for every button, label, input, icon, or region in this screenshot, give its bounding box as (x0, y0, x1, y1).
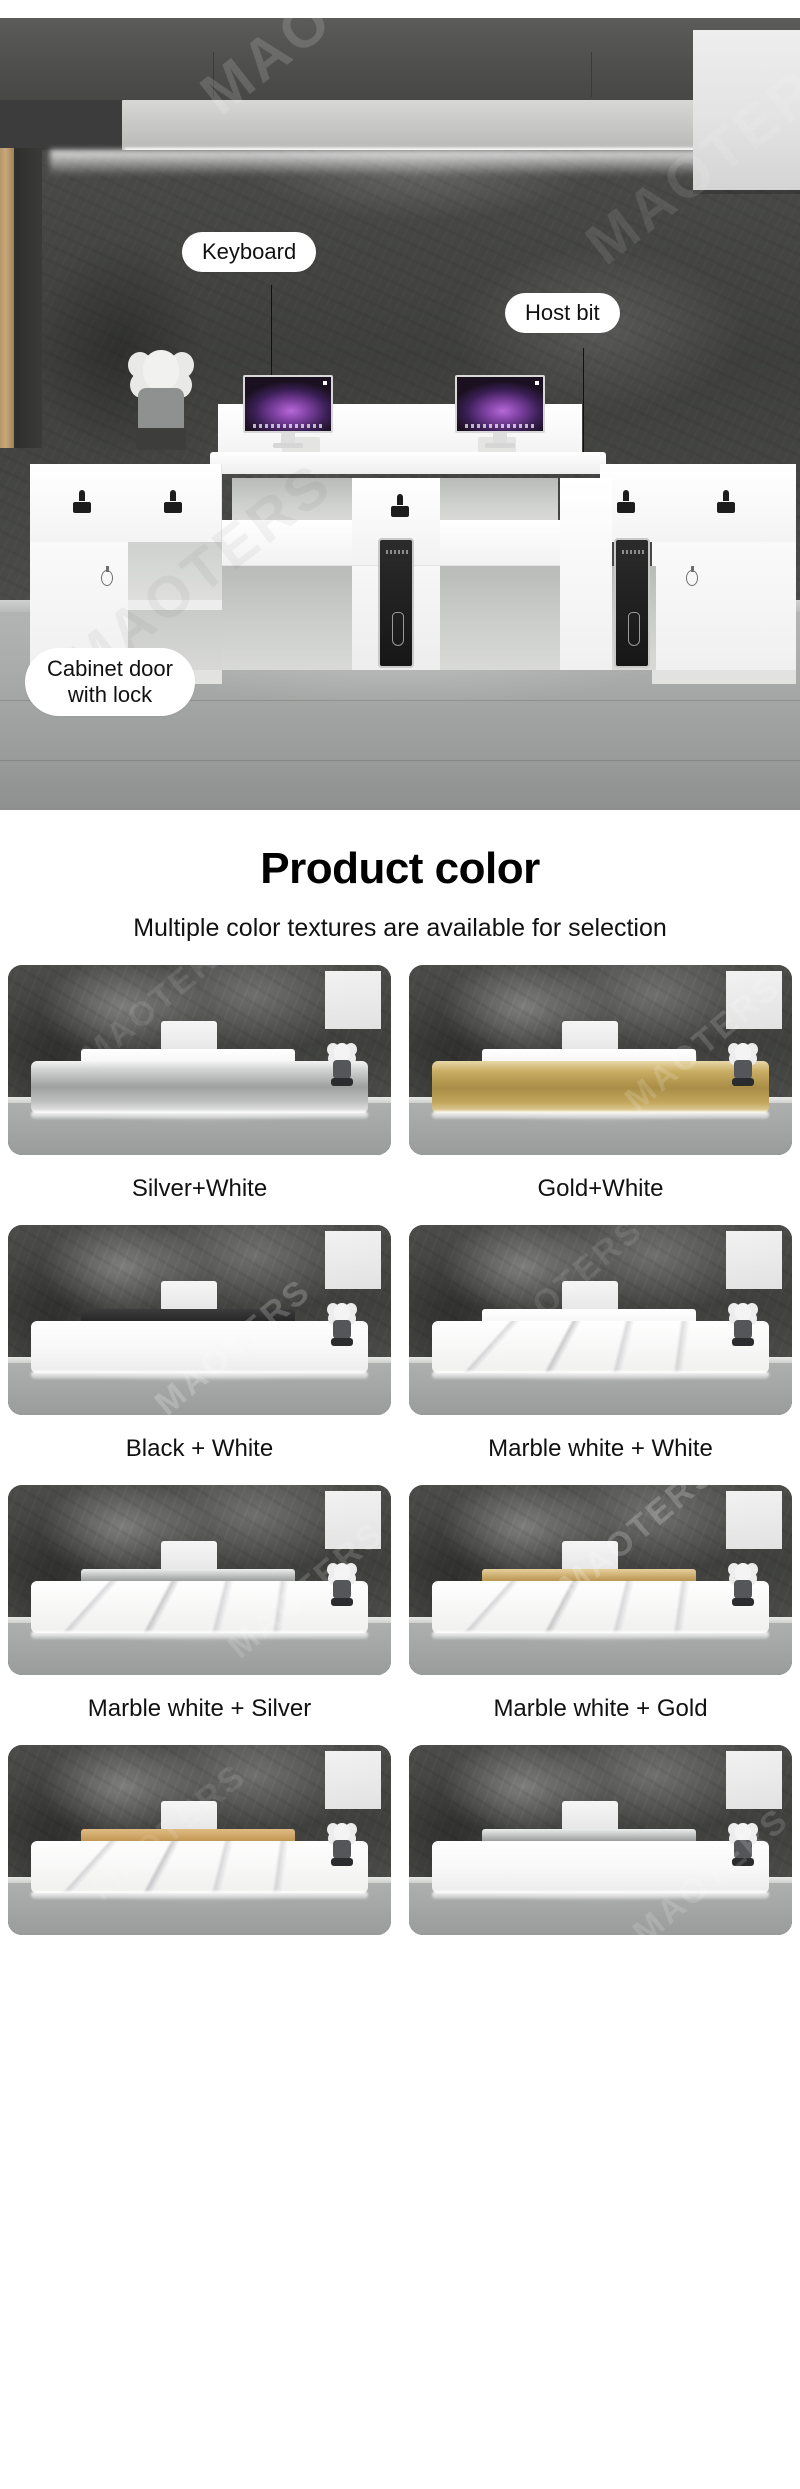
color-swatch-label-6: Marble white + Gold (409, 1675, 792, 1745)
swatch-desk-front-silver (31, 1061, 368, 1113)
swatch-wall-frame (325, 971, 381, 1029)
callout-host-bit-label: Host bit (505, 293, 620, 333)
product-color-section: Product color Multiple color textures ar… (0, 810, 800, 1935)
callout-keyboard[interactable]: Keyboard (182, 232, 316, 272)
right-cabinet-plinth (652, 670, 796, 684)
swatch-wall-frame (726, 1491, 782, 1549)
drawer-lock-icon-2 (164, 490, 182, 514)
cabinet-ring-pull-right (686, 570, 698, 586)
color-swatch-image[interactable]: MAOTERS (409, 1485, 792, 1675)
swatch-bear-figure (327, 1303, 357, 1349)
swatch-wall-frame (325, 1231, 381, 1289)
swatch-desk-front-marble (432, 1321, 769, 1373)
swatch-desk-underglow (31, 1631, 368, 1639)
swatch-monitor (161, 1281, 217, 1311)
desk-worktop (210, 452, 606, 474)
swatch-monitor (562, 1281, 618, 1311)
callout-cabinet-door-line1: Cabinet door (47, 656, 173, 681)
swatch-wall-frame (325, 1751, 381, 1809)
swatch-desk-underglow (432, 1891, 769, 1899)
monitor-left (243, 375, 333, 448)
color-swatch-label-4: Marble white + White (409, 1415, 792, 1485)
swatch-wall-frame (726, 1751, 782, 1809)
swatch-wall-frame (726, 971, 782, 1029)
color-swatch-label-2: Gold+White (409, 1155, 792, 1225)
host-tower-left (378, 538, 414, 668)
color-swatch-image[interactable]: MAOTERS (8, 1485, 391, 1675)
color-swatch-7[interactable]: MAOTERS (8, 1745, 391, 1935)
color-swatch-1[interactable]: MAOTERS Silver+White (8, 965, 391, 1225)
color-swatch-6[interactable]: MAOTERS Marble white + Gold (409, 1485, 792, 1745)
swatch-desk-underglow (31, 1371, 368, 1379)
swatch-monitor (562, 1541, 618, 1571)
color-swatch-image[interactable]: MAOTERS (409, 1225, 792, 1415)
left-drawer-row (30, 464, 222, 542)
color-swatch-label-5: Marble white + Silver (8, 1675, 391, 1745)
swatch-bear-figure (327, 1043, 357, 1089)
page-subtitle: Multiple color textures are available fo… (0, 914, 800, 943)
swatch-bear-figure (728, 1563, 758, 1609)
swatch-monitor (161, 1021, 217, 1051)
color-swatch-5[interactable]: MAOTERS Marble white + Silver (8, 1485, 391, 1745)
swatch-desk-front-marble (31, 1841, 368, 1893)
drawer-lock-icon-5 (717, 490, 735, 514)
swatch-monitor (161, 1801, 217, 1831)
hero-product-image: MAOTERS MAOTERS MAOTERS Keyboard Host bi… (0, 0, 800, 810)
cabinet-ring-pull-left (101, 570, 113, 586)
center-knee-void-left (232, 478, 352, 520)
ceiling-strip (0, 0, 800, 18)
drawer-lock-icon-4 (617, 490, 635, 514)
swatch-wall-frame (726, 1231, 782, 1289)
swatch-bear-figure (728, 1823, 758, 1869)
center-knee-void-right (440, 478, 558, 520)
left-shelf-board (128, 600, 222, 610)
swatch-wall-frame (325, 1491, 381, 1549)
swatch-desk-front-white (432, 1841, 769, 1893)
callout-cabinet-door[interactable]: Cabinet door with lock (25, 648, 195, 716)
swatch-desk-front-white (31, 1321, 368, 1373)
swatch-monitor (161, 1541, 217, 1571)
swatch-monitor (562, 1021, 618, 1051)
monitor-right (455, 375, 545, 448)
color-swatch-grid: MAOTERS Silver+White MAOTERS Gold+White (0, 965, 800, 1935)
center-legroom-left (222, 566, 352, 670)
center-drawer-right (440, 520, 560, 566)
left-open-shelf-upper (128, 542, 222, 600)
swatch-bear-figure (327, 1563, 357, 1609)
swatch-desk-front-marble (432, 1581, 769, 1633)
color-swatch-label-1: Silver+White (8, 1155, 391, 1225)
swatch-bear-figure (728, 1303, 758, 1349)
swatch-desk-underglow (432, 1371, 769, 1379)
callout-keyboard-label: Keyboard (182, 232, 316, 272)
color-swatch-image[interactable]: MAOTERS (8, 1745, 391, 1935)
center-legroom-right (440, 566, 560, 670)
color-swatch-image[interactable]: MAOTERS (409, 1745, 792, 1935)
swatch-bear-figure (728, 1043, 758, 1089)
color-swatch-2[interactable]: MAOTERS Gold+White (409, 965, 792, 1225)
swatch-desk-front-marble (31, 1581, 368, 1633)
host-tower-right (614, 538, 650, 668)
color-swatch-4[interactable]: MAOTERS Marble white + White (409, 1225, 792, 1485)
color-swatch-3[interactable]: MAOTERS Black + White (8, 1225, 391, 1485)
swatch-desk-underglow (31, 1111, 368, 1119)
color-swatch-8[interactable]: MAOTERS (409, 1745, 792, 1935)
color-swatch-image[interactable]: MAOTERS (409, 965, 792, 1155)
swatch-monitor (562, 1801, 618, 1831)
callout-host-bit[interactable]: Host bit (505, 293, 620, 333)
right-tower-bay (560, 478, 612, 670)
swatch-desk-underglow (432, 1631, 769, 1639)
swatch-desk-underglow (432, 1111, 769, 1119)
page-title: Product color (0, 844, 800, 894)
right-cabinet-body (652, 542, 796, 670)
drawer-lock-icon-1 (73, 490, 91, 514)
color-swatch-image[interactable]: MAOTERS (8, 965, 391, 1155)
swatch-desk-front-gold (432, 1061, 769, 1113)
callout-cabinet-door-label: Cabinet door with lock (25, 648, 195, 716)
swatch-bear-figure (327, 1823, 357, 1869)
callout-cabinet-door-line2: with lock (68, 682, 152, 707)
drawer-lock-icon-3 (391, 494, 409, 518)
swatch-desk-underglow (31, 1891, 368, 1899)
center-drawer-left (222, 520, 352, 566)
color-swatch-image[interactable]: MAOTERS (8, 1225, 391, 1415)
color-swatch-label-3: Black + White (8, 1415, 391, 1485)
